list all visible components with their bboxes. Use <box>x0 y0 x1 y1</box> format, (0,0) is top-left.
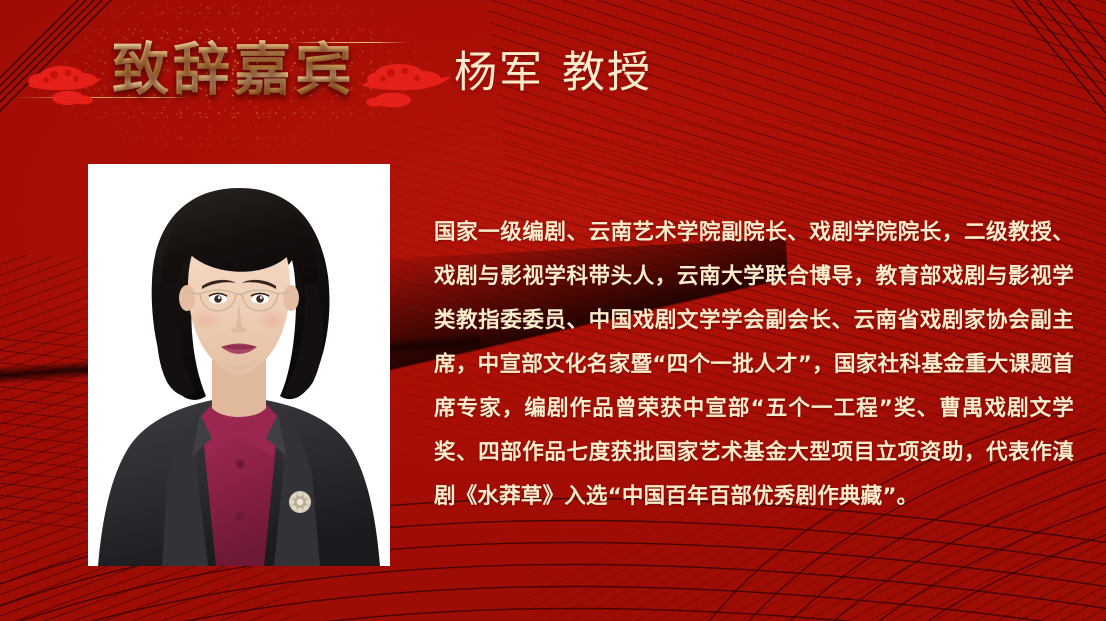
guest-name-title: 教授 <box>562 48 652 98</box>
guest-name: 杨军教授 <box>0 38 1106 100</box>
presentation-slide: 致辞嘉宾 杨军教授 <box>0 0 1106 621</box>
guest-name-person: 杨军 <box>454 48 544 98</box>
guest-portrait-photo <box>88 164 390 566</box>
guest-bio-paragraph: 国家一级编剧、云南艺术学院副院长、戏剧学院院长，二级教授、戏剧与影视学科带头人，… <box>434 211 1074 519</box>
